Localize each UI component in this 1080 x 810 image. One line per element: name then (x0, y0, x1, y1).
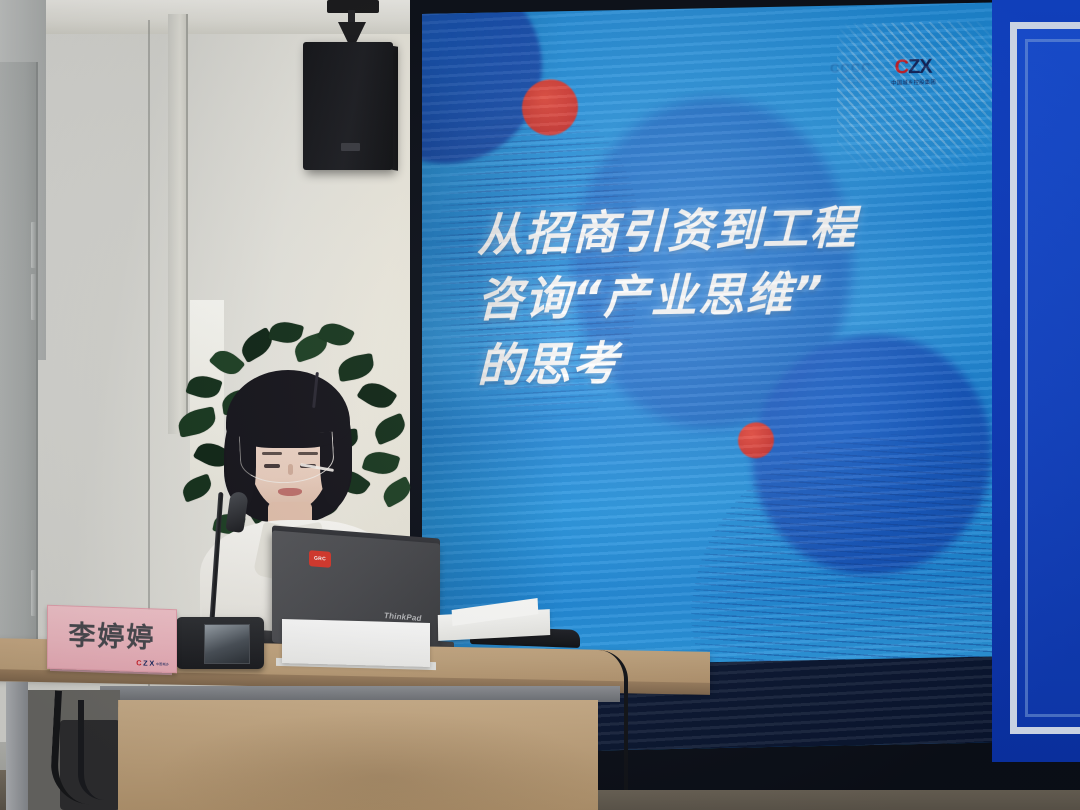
slide-title-line-1: 从招商引资到工程 (477, 192, 997, 268)
slide-diagonal-hatch (837, 20, 1007, 173)
primary-logo-mark: CZX (895, 56, 932, 77)
screen-power-cable (598, 650, 628, 790)
presentation-photo-scene: CCCC 中国交建 CZX 中国城乡控股集团 从招商引资到工程 咨询“产业思维”… (0, 0, 1080, 810)
side-panel-frame (1010, 22, 1080, 734)
microphone-base-display (204, 624, 250, 664)
nameplate: 李婷婷 CZX 中国城乡 (47, 605, 177, 674)
cable (78, 700, 114, 800)
primary-logo: CZX 中国城乡控股集团 (890, 56, 937, 86)
secondary-logo-mark: CCCC (830, 60, 872, 76)
secondary-logo: CCCC 中国交建 (830, 60, 872, 85)
nameplate-logo-subtitle: 中国城乡 (156, 661, 169, 666)
slide-title-line-3: 的思考 (477, 323, 997, 399)
logo-letter-x: X (919, 56, 931, 76)
hair-parting (312, 372, 319, 408)
nameplate-logo: CZX 中国城乡 (136, 659, 169, 668)
desk-modesty-panel (118, 700, 598, 810)
door-hinge (31, 222, 36, 268)
side-panel-inner-frame (1025, 39, 1080, 717)
slide-title: 从招商引资到工程 咨询“产业思维” 的思考 (477, 192, 997, 398)
nameplate-logo-letter-x: X (149, 660, 154, 668)
mouth (278, 488, 302, 496)
desk-leg (6, 682, 28, 810)
nameplate-logo-letter-z: Z (143, 660, 148, 668)
door-hinge (31, 570, 36, 616)
laptop-sticker-label: GRC (314, 556, 326, 563)
white-table-card (282, 619, 430, 667)
primary-logo-subtitle: 中国城乡控股集团 (891, 77, 936, 86)
door-hinge (31, 274, 36, 320)
secondary-logo-subtitle: 中国交建 (840, 77, 862, 84)
wood-grain (118, 700, 598, 810)
side-display-panel (992, 0, 1080, 762)
laptop-sticker: GRC (309, 550, 331, 568)
speaker-badge (341, 143, 360, 151)
nameplate-name-text: 李婷婷 (48, 613, 176, 656)
slide-title-line-2: 咨询“产业思维” (477, 258, 997, 334)
nameplate-logo-letter-c: C (136, 659, 141, 667)
logo-letter-z: Z (908, 57, 919, 77)
logo-letter-c: C (895, 57, 908, 77)
room-door[interactable] (0, 62, 38, 662)
